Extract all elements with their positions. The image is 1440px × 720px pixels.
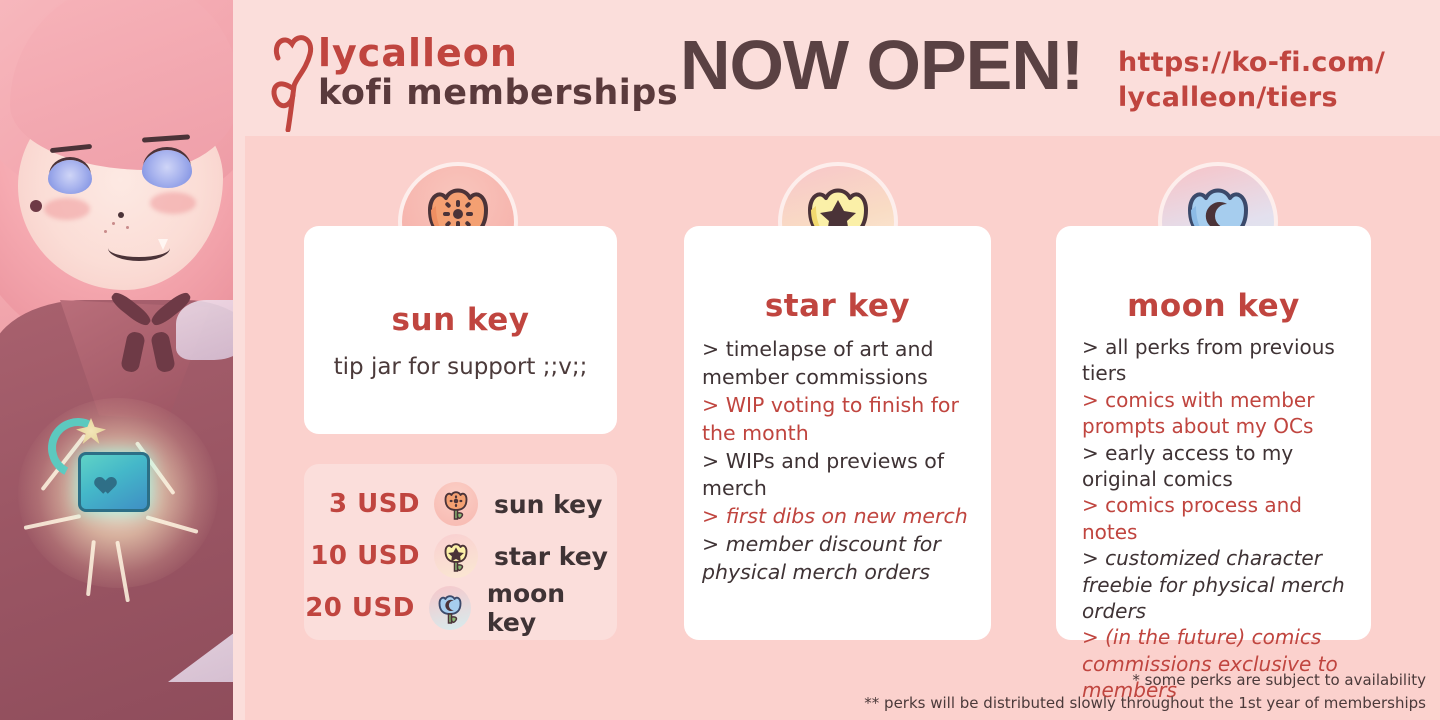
earring: [30, 200, 42, 212]
star-tulip-icon: [434, 534, 478, 578]
moon-tulip-icon: [429, 586, 471, 630]
perk-item: > timelapse of art and member commission…: [702, 336, 977, 392]
tier-description-sun: tip jar for support ;;v;;: [304, 354, 617, 380]
illustration-edge-strip: [233, 0, 245, 720]
fang: [158, 239, 168, 250]
perk-item: > member discount for physical merch ord…: [702, 531, 977, 587]
brand-block: lycalleon kofi memberships: [318, 34, 678, 113]
perk-item: > early access to my original comics: [1082, 440, 1357, 493]
poster-root: lycalleon kofi memberships NOW OPEN! htt…: [0, 0, 1440, 720]
character-illustration: [0, 0, 245, 720]
perk-item: > WIP voting to finish for the month: [702, 392, 977, 448]
brand-name: lycalleon: [318, 34, 678, 74]
eye-left: [48, 160, 92, 194]
perk-item: > comics process and notes: [1082, 492, 1357, 545]
perk-item: > WIPs and previews of merch: [702, 448, 977, 504]
nose: [118, 212, 124, 218]
perk-item: > first dibs on new merch: [702, 503, 977, 531]
footnote-1: * some perks are subject to availability: [864, 669, 1426, 692]
page-title: NOW OPEN!: [680, 30, 1083, 100]
pricing-panel: 3 USD sun key 10 USD: [304, 464, 617, 640]
url-line-2: lycalleon/tiers: [1118, 81, 1385, 116]
blush-left: [44, 198, 90, 220]
brand-subtitle: kofi memberships: [318, 74, 678, 113]
hair-bangs-shape: [10, 0, 240, 170]
freckle: [126, 226, 129, 229]
kofi-url-link[interactable]: https://ko-fi.com/ lycalleon/tiers: [1118, 46, 1385, 115]
blush-right: [150, 192, 196, 214]
price-amount-star: 10 USD: [304, 541, 434, 571]
tier-title-sun: sun key: [304, 302, 617, 338]
footnote-2: ** perks will be distributed slowly thro…: [864, 692, 1426, 715]
perk-list-star: > timelapse of art and member commission…: [702, 336, 977, 587]
sun-tulip-icon: [434, 482, 478, 526]
price-name-moon: moon key: [471, 579, 617, 637]
price-row-sun[interactable]: 3 USD sun key: [304, 478, 617, 530]
freckle: [104, 230, 107, 233]
price-amount-moon: 20 USD: [304, 593, 429, 623]
price-row-moon[interactable]: 20 USD moon key: [304, 582, 617, 634]
tier-card-star[interactable]: star key > timelapse of art and member c…: [684, 226, 991, 640]
price-row-star[interactable]: 10 USD star key: [304, 530, 617, 582]
price-name-sun: sun key: [478, 490, 602, 519]
perk-list-moon: > all perks from previous tiers > comics…: [1082, 334, 1357, 703]
price-name-star: star key: [478, 542, 608, 571]
heart-emblem: [100, 470, 122, 490]
tier-title-moon: moon key: [1056, 288, 1371, 324]
tier-card-moon[interactable]: moon key > all perks from previous tiers…: [1056, 226, 1371, 640]
tier-title-star: star key: [684, 288, 991, 324]
footnotes: * some perks are subject to availability…: [864, 669, 1426, 714]
perk-item: > all perks from previous tiers: [1082, 334, 1357, 387]
freckle: [112, 222, 115, 225]
ribbon-bow: [108, 292, 198, 372]
url-line-1: https://ko-fi.com/: [1118, 46, 1385, 81]
perk-item: > customized character freebie for physi…: [1082, 545, 1357, 624]
eye-right: [142, 150, 192, 188]
perk-item: > comics with member prompts about my OC…: [1082, 387, 1357, 440]
heart-flower-icon: [268, 28, 324, 132]
tier-card-sun[interactable]: sun key tip jar for support ;;v;;: [304, 226, 617, 434]
price-amount-sun: 3 USD: [304, 489, 434, 519]
